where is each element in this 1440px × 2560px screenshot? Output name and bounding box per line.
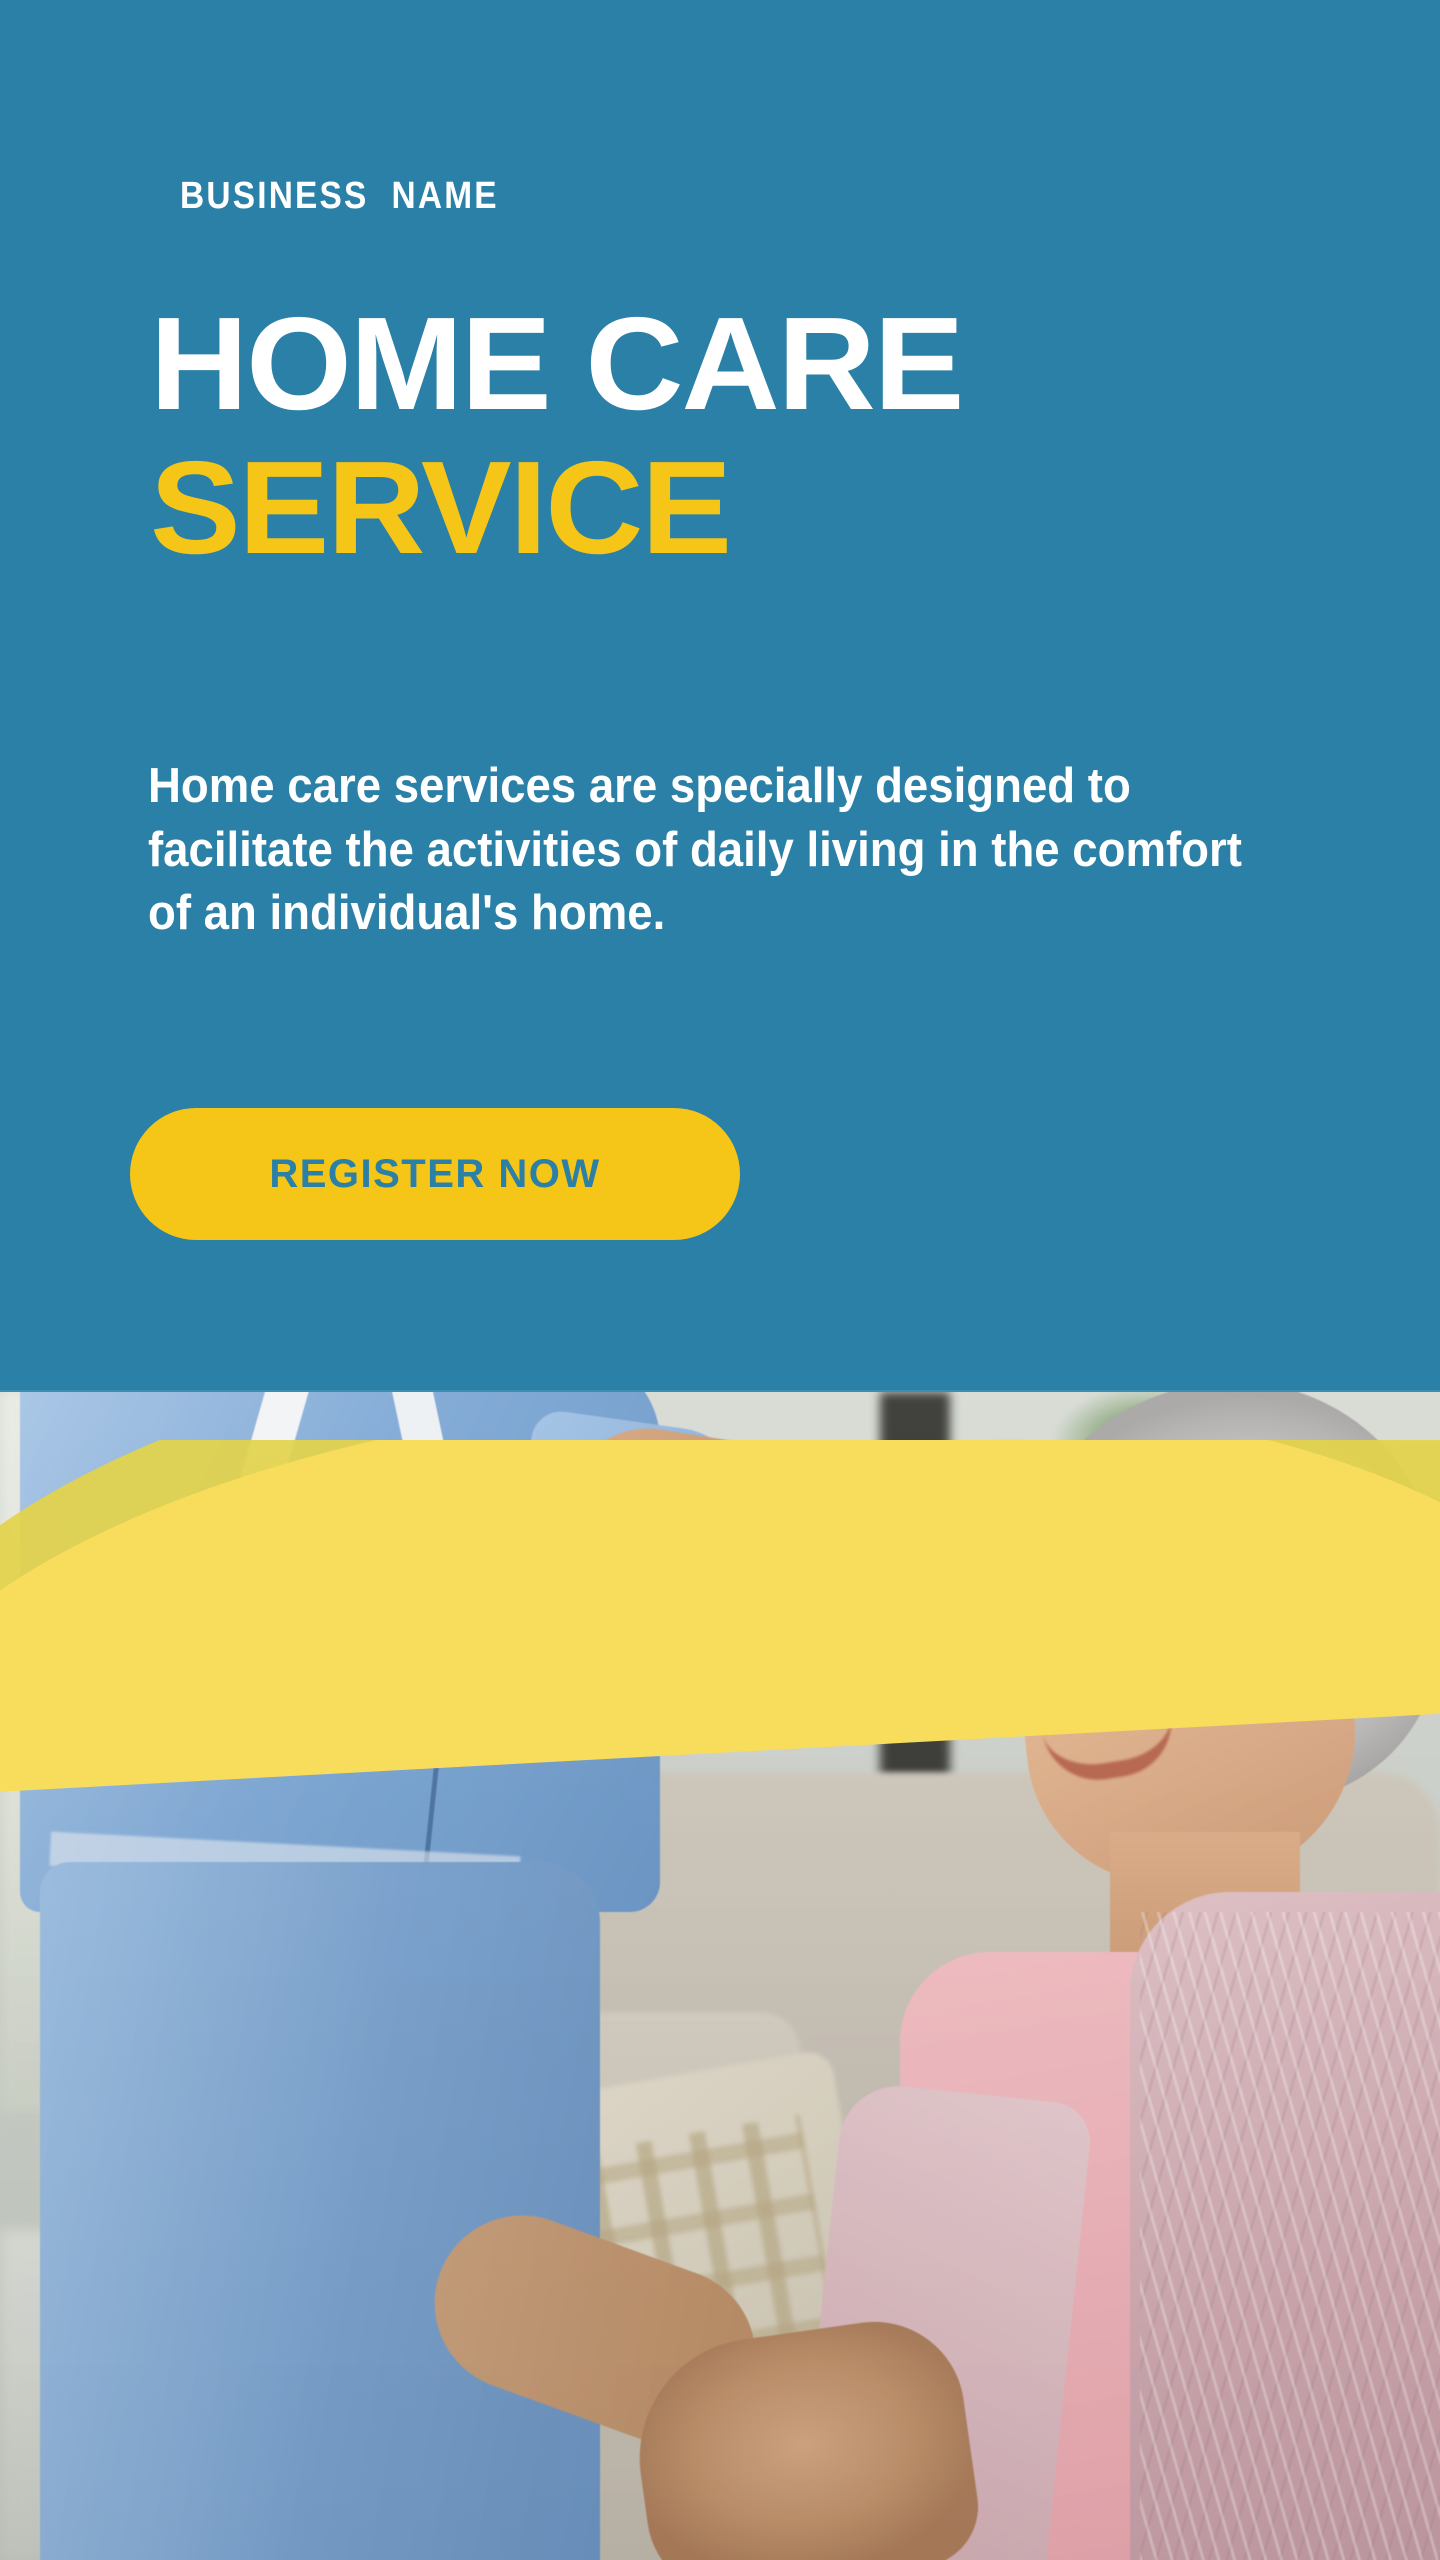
description-text: Home care services are specially designe… <box>148 755 1245 946</box>
page-title: HOME CARE SERVICE <box>150 300 939 572</box>
business-name: BUSINESS NAME <box>180 175 499 218</box>
register-now-label: REGISTER NOW <box>269 1152 600 1197</box>
headline-line-accent: SERVICE <box>150 444 962 572</box>
photo-tone-overlay <box>0 1392 1440 2560</box>
headline-line-primary: HOME CARE <box>150 300 962 428</box>
register-now-button[interactable]: REGISTER NOW <box>130 1108 740 1240</box>
poster-canvas: BUSINESS NAME HOME CARE SERVICE Home car… <box>0 0 1440 2560</box>
hero-photo <box>0 1392 1440 2560</box>
